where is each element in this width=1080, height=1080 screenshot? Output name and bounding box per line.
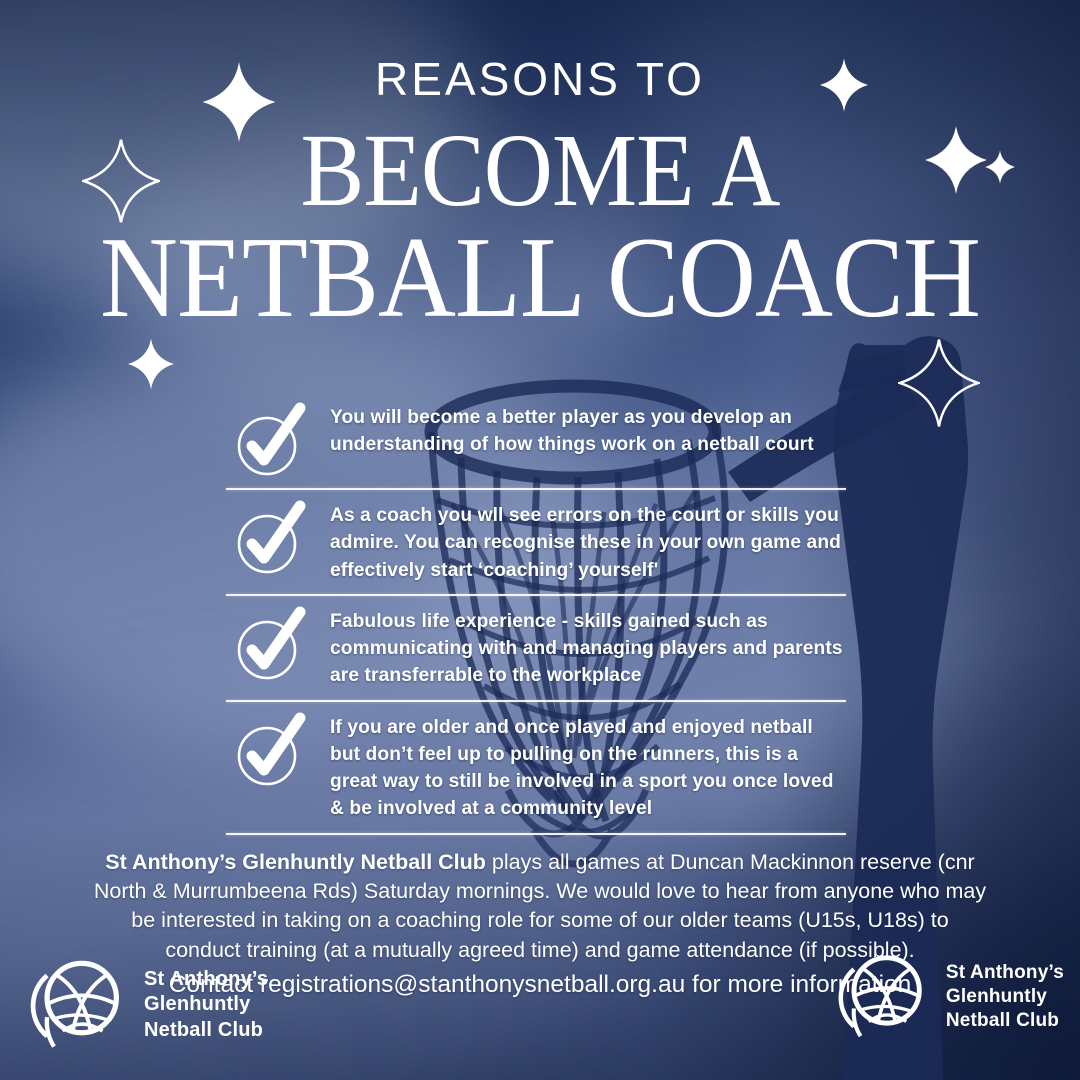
- logo-line-3: Netball Club: [946, 1009, 1064, 1033]
- logo-line-1: St Anthony’s: [144, 967, 268, 993]
- list-item-text: You will become a better player as you d…: [330, 398, 846, 459]
- list-item-text: If you are older and once played and enj…: [330, 708, 846, 823]
- club-logo-right: St Anthony’s Glenhuntly Netball Club: [836, 948, 1064, 1046]
- list-item: Fabulous life experience - skills gained…: [226, 596, 846, 700]
- check-circle-icon: [226, 398, 312, 478]
- title-line-2: NETBALL COACH: [38, 218, 1042, 339]
- check-circle-icon: [226, 602, 312, 682]
- footer-club-name: St Anthony’s Glenhuntly Netball Club: [105, 850, 486, 874]
- club-logo-right-text: St Anthony’s Glenhuntly Netball Club: [946, 961, 1064, 1034]
- list-item-text: Fabulous life experience - skills gained…: [330, 602, 846, 690]
- poster-title: BECOME A NETBALL COACH: [0, 118, 1080, 339]
- netball-club-logo-icon: [28, 953, 132, 1057]
- title-line-1: BECOME A: [43, 118, 1037, 224]
- list-divider: [226, 833, 846, 835]
- logo-line-3: Netball Club: [144, 1018, 268, 1044]
- netball-club-logo-icon: [836, 948, 934, 1046]
- logo-line-1: St Anthony’s: [946, 961, 1064, 985]
- club-logo-left: St Anthony’s Glenhuntly Netball Club: [28, 953, 268, 1057]
- list-item: You will become a better player as you d…: [226, 392, 846, 488]
- logo-line-2: Glenhuntly: [144, 992, 268, 1018]
- list-item: As a coach you wll see errors on the cou…: [226, 490, 846, 594]
- check-circle-icon: [226, 708, 312, 788]
- list-item-text: As a coach you wll see errors on the cou…: [330, 496, 846, 584]
- logo-line-2: Glenhuntly: [946, 985, 1064, 1009]
- list-item: If you are older and once played and enj…: [226, 702, 846, 833]
- check-circle-icon: [226, 496, 312, 576]
- reasons-list: You will become a better player as you d…: [226, 392, 846, 835]
- poster-canvas: REASONS TO BECOME A NETBALL COACH You wi…: [0, 0, 1080, 1080]
- poster-kicker: REASONS TO: [0, 56, 1080, 102]
- club-logo-left-text: St Anthony’s Glenhuntly Netball Club: [144, 967, 268, 1044]
